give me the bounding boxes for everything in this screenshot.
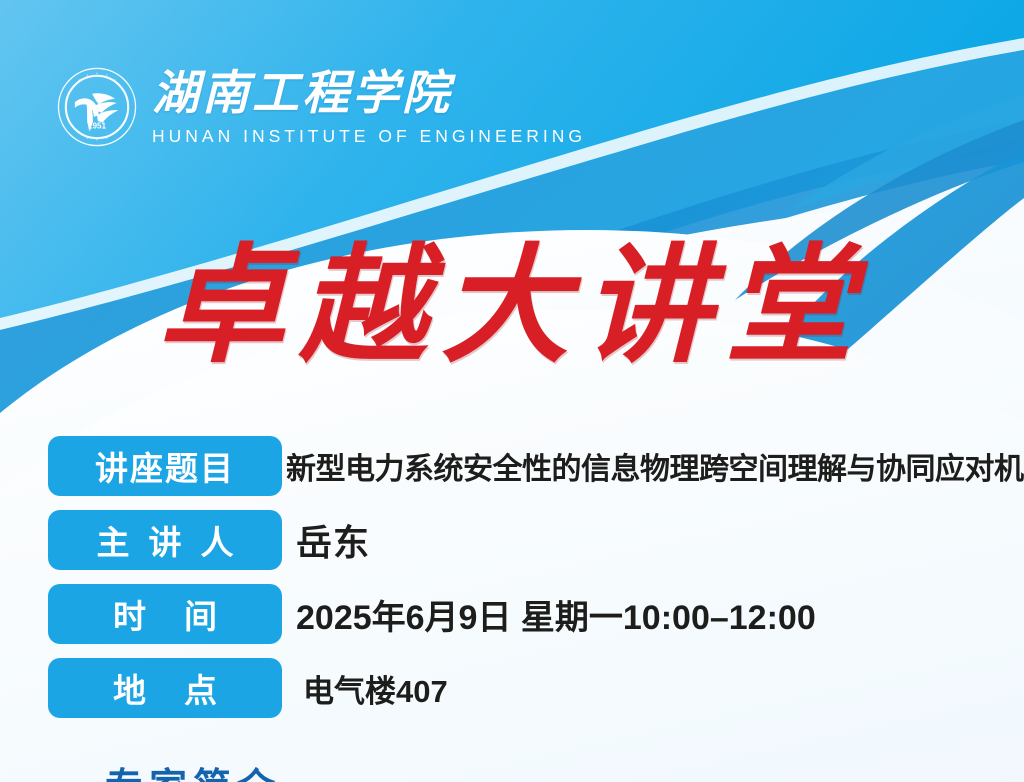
university-name-en: HUNAN INSTITUTE OF ENGINEERING [152,128,586,146]
brand-text: 湖南工程学院 HUNAN INSTITUTE OF ENGINEERING [152,69,586,145]
lecture-poster: 1951 湖南工程学院 HUNAN INSTITUTE OF ENGINEERI… [0,0,1024,782]
info-label-location: 地点 [48,658,282,718]
info-row-lecture-topic: 讲座题目 新型电力系统安全性的信息物理跨空间理解与协同应对机制 [0,436,1024,496]
info-label-lecture-topic: 讲座题目 [48,436,282,496]
info-row-datetime: 时间 2025年6月9日 星期一10:00–12:00 [0,584,1024,644]
university-emblem-icon: 1951 [56,66,138,148]
info-value-speaker: 岳东 [296,510,370,570]
university-name-cn: 湖南工程学院 [152,71,586,119]
info-label-datetime: 时间 [48,584,282,644]
lecture-info-list: 讲座题目 新型电力系统安全性的信息物理跨空间理解与协同应对机制 主讲人 岳东 时… [0,436,1024,732]
info-row-speaker: 主讲人 岳东 [0,510,1024,570]
info-value-lecture-topic: 新型电力系统安全性的信息物理跨空间理解与协同应对机制 [286,436,1024,496]
brand-lockup: 1951 湖南工程学院 HUNAN INSTITUTE OF ENGINEERI… [56,66,586,148]
info-label-speaker: 主讲人 [48,510,282,570]
info-value-datetime: 2025年6月9日 星期一10:00–12:00 [296,584,816,644]
info-row-location: 地点 电气楼407 [0,658,1024,718]
section-heading-speaker-bio: 专家简介 [105,756,281,782]
info-value-location: 电气楼407 [303,658,448,718]
page-title: 卓越大讲堂 [0,243,1024,371]
emblem-year-text: 1951 [88,121,107,130]
